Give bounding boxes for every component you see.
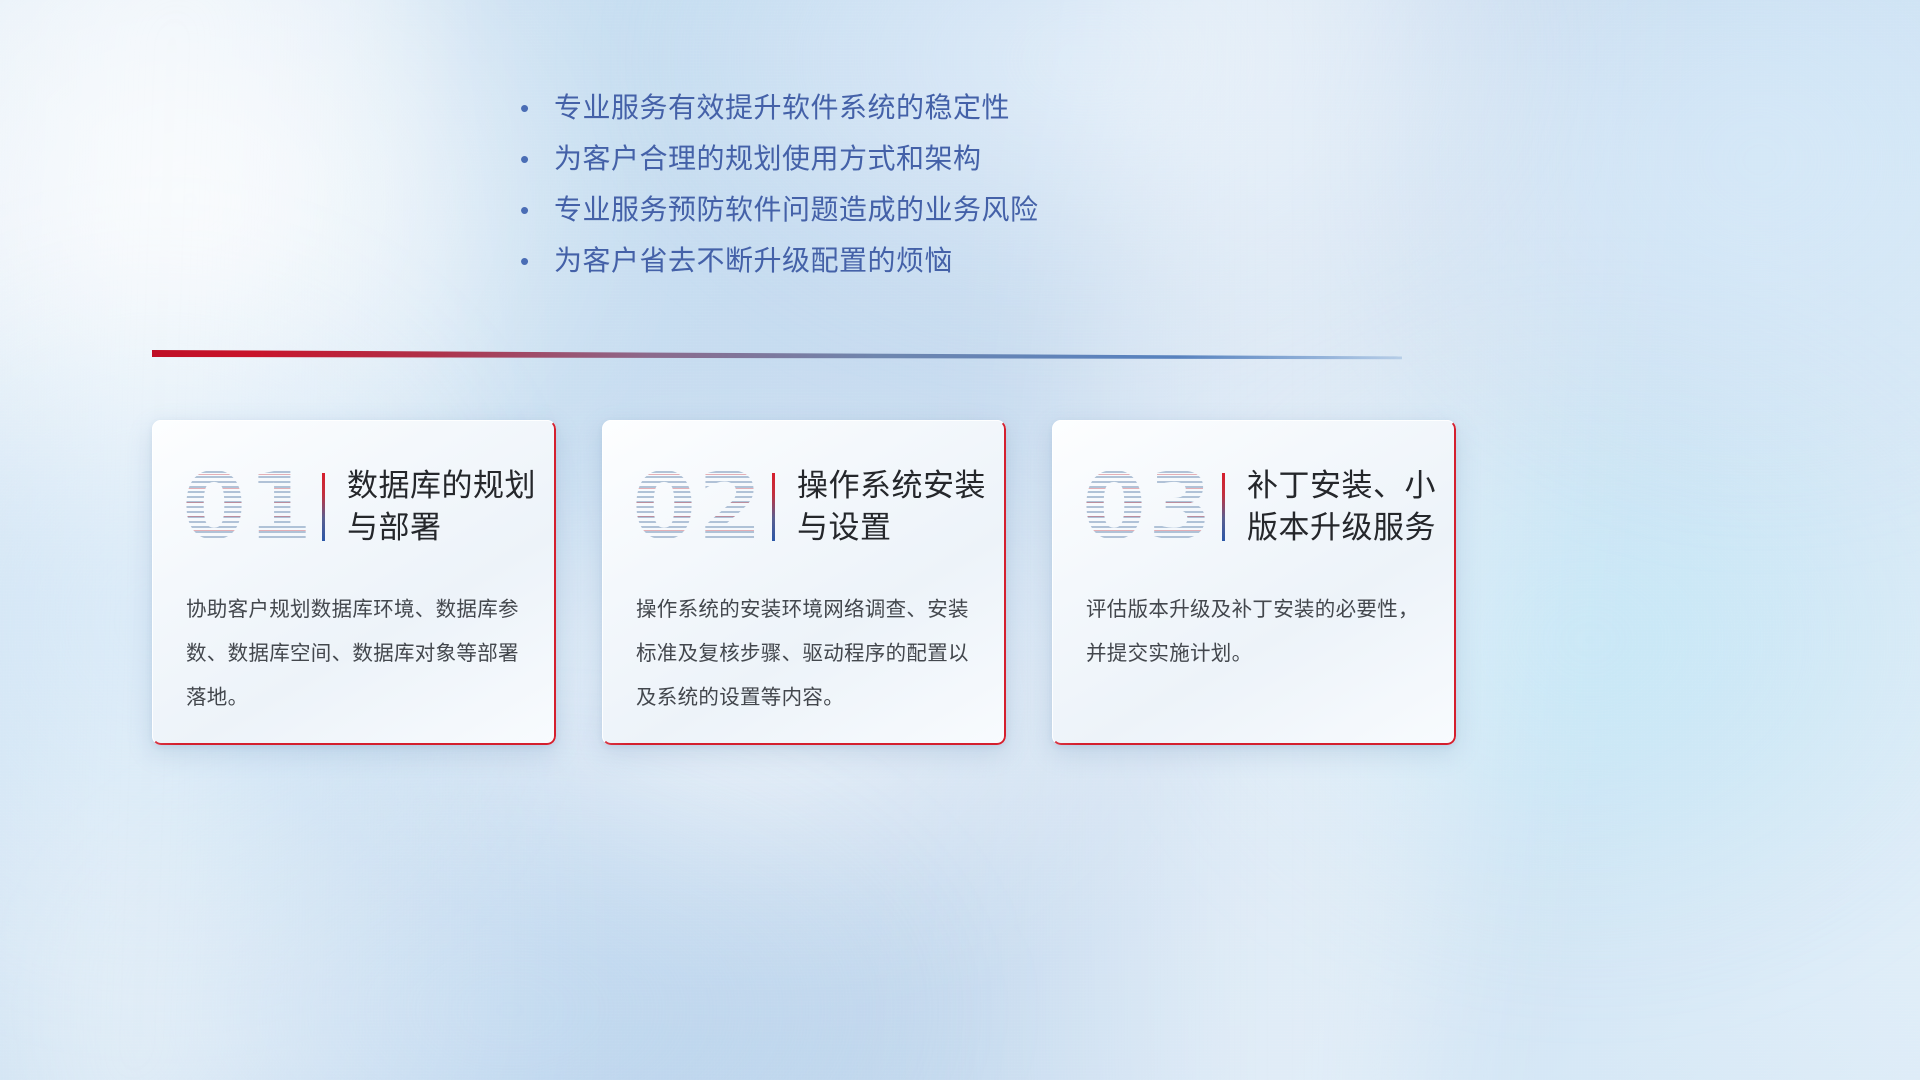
bullet-item-label: 专业服务预防软件问题造成的业务风险 — [554, 190, 1039, 230]
card-description: 操作系统的安装环境网络调查、安装标准及复核步骤、驱动程序的配置以及系统的设置等内… — [636, 588, 976, 720]
card-title: 补丁安装、小版本升级服务 — [1247, 465, 1456, 549]
list-item: • 为客户合理的规划使用方式和架构 — [520, 139, 1400, 190]
card-description: 协助客户规划数据库环境、数据库参数、数据库空间、数据库对象等部署落地。 — [186, 588, 526, 720]
card-vertical-rule — [772, 473, 775, 541]
card-number-red-overlay: 02 — [624, 455, 772, 559]
card-header: 03 03 补丁安装、小版本升级服务 — [1052, 448, 1456, 566]
bullet-item-label: 为客户省去不断升级配置的烦恼 — [554, 241, 953, 281]
service-card[interactable]: 03 03 补丁安装、小版本升级服务 评估版本升级及补丁安装的必要性，并提交实施… — [1052, 420, 1456, 745]
card-number-red-overlay: 01 — [174, 455, 322, 559]
gradient-rule-icon — [152, 348, 1402, 362]
card-number-watermark: 02 02 — [624, 455, 772, 559]
bullet-dot-icon: • — [520, 139, 554, 179]
card-vertical-rule — [1222, 473, 1225, 541]
card-number-watermark: 03 03 — [1074, 455, 1222, 559]
card-number-watermark: 01 01 — [174, 455, 322, 559]
card-title: 数据库的规划与部署 — [347, 465, 556, 549]
section-divider — [152, 348, 1402, 362]
list-item: • 专业服务有效提升软件系统的稳定性 — [520, 88, 1400, 139]
bullet-dot-icon: • — [520, 190, 554, 230]
card-header: 02 02 操作系统安装与设置 — [602, 448, 1006, 566]
bullet-dot-icon: • — [520, 241, 554, 281]
card-title: 操作系统安装与设置 — [797, 465, 1006, 549]
card-vertical-rule — [322, 473, 325, 541]
bullet-item-label: 专业服务有效提升软件系统的稳定性 — [554, 88, 1010, 128]
bullet-item-label: 为客户合理的规划使用方式和架构 — [554, 139, 982, 179]
service-card[interactable]: 01 01 数据库的规划与部署 协助客户规划数据库环境、数据库参数、数据库空间、… — [152, 420, 556, 745]
service-cards: 01 01 数据库的规划与部署 协助客户规划数据库环境、数据库参数、数据库空间、… — [152, 420, 1772, 750]
benefits-bullet-list: • 专业服务有效提升软件系统的稳定性 • 为客户合理的规划使用方式和架构 • 专… — [520, 88, 1400, 292]
bullet-dot-icon: • — [520, 88, 554, 128]
service-card[interactable]: 02 02 操作系统安装与设置 操作系统的安装环境网络调查、安装标准及复核步骤、… — [602, 420, 1006, 745]
card-number-red-overlay: 03 — [1074, 455, 1222, 559]
list-item: • 专业服务预防软件问题造成的业务风险 — [520, 190, 1400, 241]
card-description: 评估版本升级及补丁安装的必要性，并提交实施计划。 — [1086, 588, 1426, 676]
card-header: 01 01 数据库的规划与部署 — [152, 448, 556, 566]
list-item: • 为客户省去不断升级配置的烦恼 — [520, 241, 1400, 292]
